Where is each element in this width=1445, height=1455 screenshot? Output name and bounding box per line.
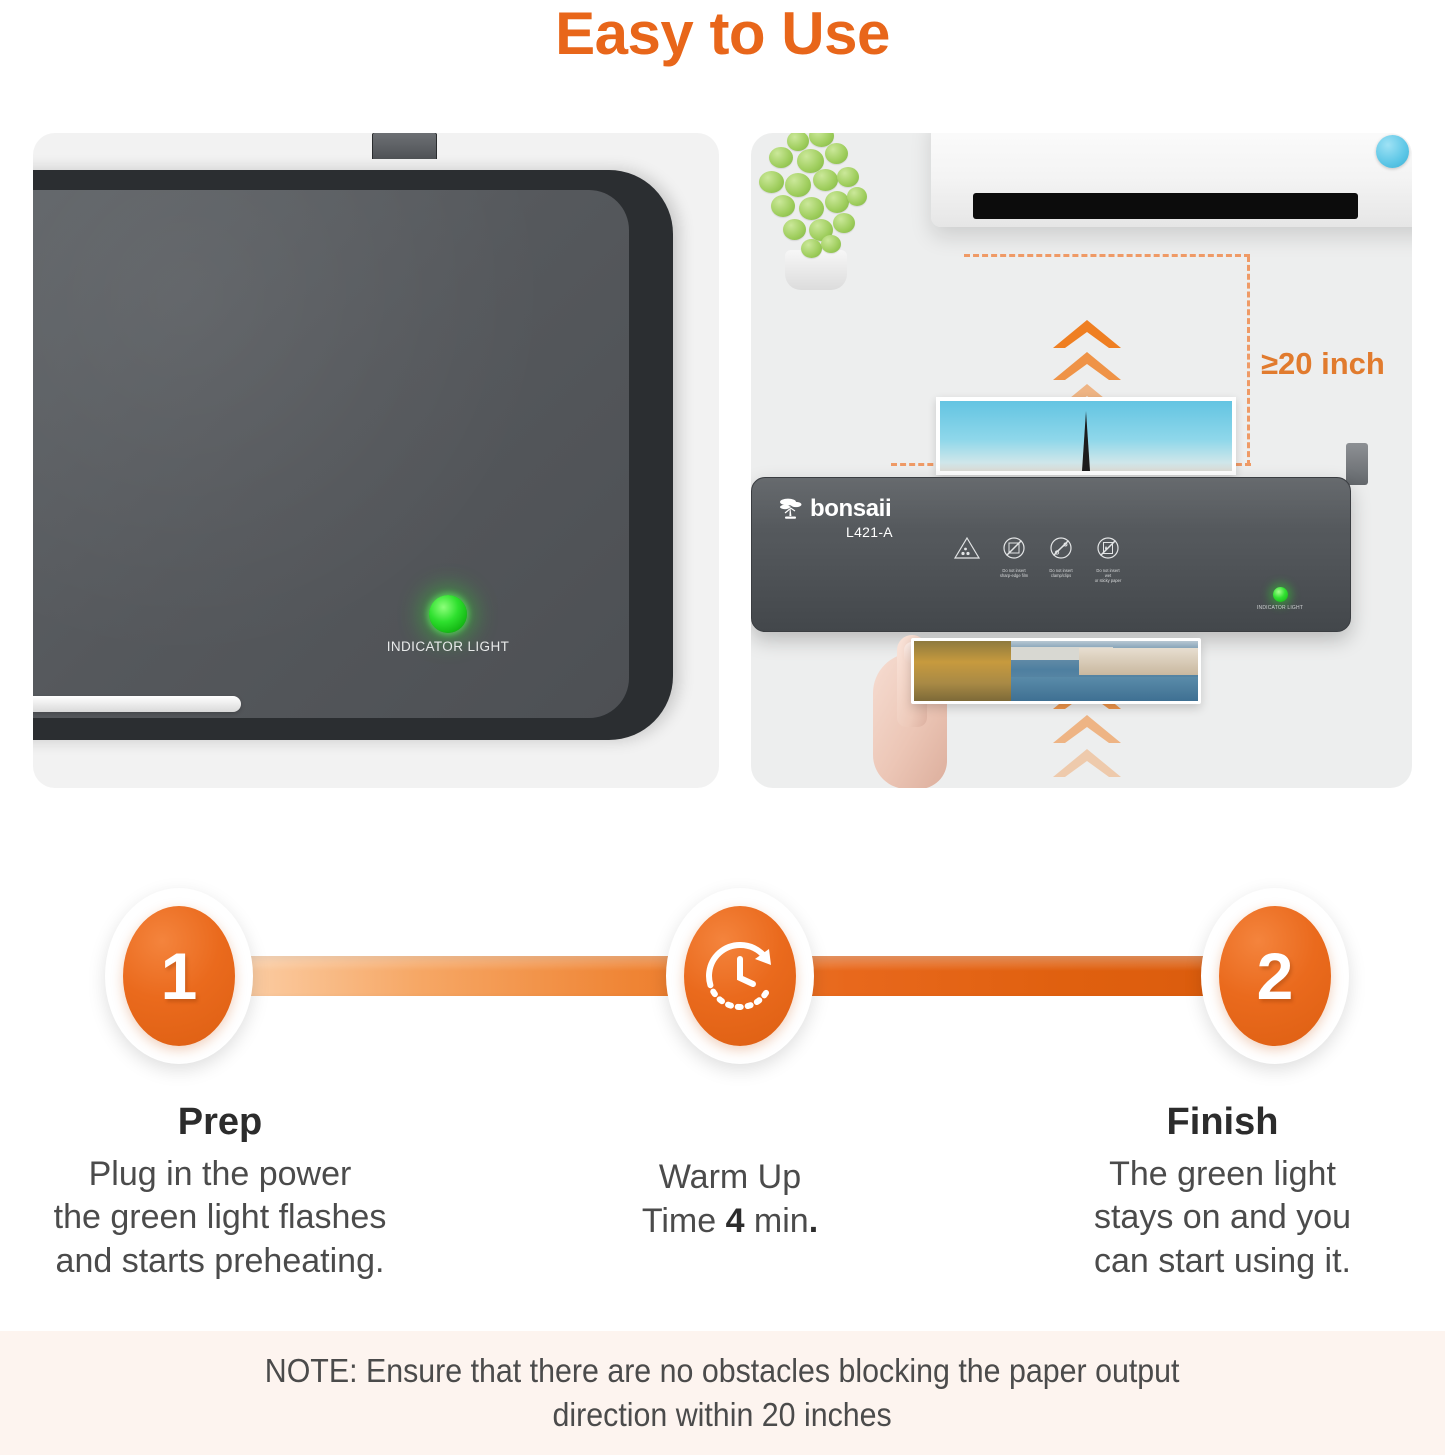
- note-banner: NOTE: Ensure that there are no obstacles…: [0, 1331, 1445, 1455]
- step-prep-line-2: the green light flashes: [0, 1196, 440, 1240]
- step-finish-line-3: can start using it.: [1000, 1240, 1445, 1284]
- step-prep-line-3: and starts preheating.: [0, 1240, 440, 1284]
- warning-caption: Do not insertsharp-edge film: [999, 568, 1029, 578]
- step-finish-line-1: The green light: [1000, 1153, 1445, 1197]
- laminated-photo-output: [936, 397, 1236, 475]
- step-warmup-description: Warm Up Time 4 min.: [520, 1156, 940, 1243]
- model-number: L421-A: [846, 524, 893, 540]
- step-warmup-line-1: Warm Up: [520, 1156, 940, 1200]
- warmup-time-period: .: [809, 1202, 818, 1240]
- step-node-1-disc: 1: [123, 906, 235, 1046]
- warning-caption: Do not insertclamp/clips: [1046, 568, 1076, 578]
- step-finish-line-2: stays on and you: [1000, 1196, 1445, 1240]
- note-line-2: direction within 20 inches: [265, 1393, 1180, 1437]
- step-prep-title: Prep: [0, 1100, 440, 1145]
- photo-trees: [914, 641, 1011, 701]
- bonsai-tree-icon: [778, 496, 804, 522]
- laminator-front-lip: [33, 696, 241, 712]
- photo-sky-image: [940, 401, 1232, 471]
- page-title: Easy to Use: [0, 2, 1445, 65]
- brand-logo-group: bonsaii: [778, 496, 891, 522]
- laminator-top-surface: [33, 190, 629, 718]
- note-line-1: NOTE: Ensure that there are no obstacles…: [265, 1349, 1180, 1393]
- clearance-line-top: [964, 254, 1250, 257]
- green-indicator-light-icon: [1273, 587, 1288, 602]
- photo-being-inserted: [911, 638, 1201, 704]
- laminator-body: INDICATOR LIGHT: [33, 170, 673, 740]
- clearance-line-vertical: [1247, 256, 1250, 466]
- lid-release-tab: [372, 133, 437, 159]
- step-node-1[interactable]: 1: [105, 888, 253, 1064]
- step-node-timer-disc: [684, 906, 796, 1046]
- hot-surface-warning-icon: [952, 535, 982, 568]
- step-node-1-label: 1: [161, 943, 198, 1009]
- step-prep-line-1: Plug in the power: [0, 1153, 440, 1197]
- step-finish: Finish The green light stays on and you …: [1000, 1100, 1445, 1283]
- process-timeline: 1 2: [0, 888, 1445, 1064]
- green-indicator-light-icon: [429, 595, 467, 633]
- photo-landscape-image: [914, 641, 1198, 701]
- white-laminator-device: [931, 133, 1412, 227]
- brand-name: bonsaii: [810, 497, 891, 521]
- no-scissors-icon: Do not insertclamp/clips: [1046, 535, 1076, 578]
- step-warmup-line-2: Time 4 min.: [520, 1200, 940, 1244]
- step-node-2-label: 2: [1257, 943, 1294, 1009]
- indicator-light-label: INDICATOR LIGHT: [378, 639, 518, 654]
- warmup-time-unit: min: [744, 1202, 808, 1240]
- no-sharp-objects-icon: Do not insertsharp-edge film: [999, 535, 1029, 578]
- machine-indicator-group: INDICATOR LIGHT: [1240, 587, 1320, 611]
- indicator-light-label: INDICATOR LIGHT: [1240, 605, 1320, 611]
- warmup-time-prefix: Time: [642, 1202, 726, 1240]
- image-panels-row: INDICATOR LIGHT: [33, 133, 1412, 788]
- tower-spire: [1082, 411, 1090, 471]
- indicator-light-group: INDICATOR LIGHT: [378, 595, 518, 654]
- bonsaii-laminator: bonsaii L421-A: [751, 477, 1351, 632]
- step-node-2-disc: 2: [1219, 906, 1331, 1046]
- step-prep: Prep Plug in the power the green light f…: [0, 1100, 440, 1283]
- paper-output-slot: [973, 193, 1358, 219]
- paper-output-clearance-panel: ≥20 inch: [751, 133, 1412, 788]
- warning-caption: Do not insert wetor sticky paper: [1093, 568, 1123, 583]
- laminator-side-handle: [1346, 443, 1368, 485]
- step-prep-description: Plug in the power the green light flashe…: [0, 1153, 440, 1284]
- step-warmup: Warm Up Time 4 min.: [520, 1156, 940, 1243]
- potted-plant-icon: [757, 133, 889, 290]
- warning-icons-row: Do not insertsharp-edge film Do not inse…: [952, 535, 1123, 583]
- note-text: NOTE: Ensure that there are no obstacles…: [265, 1349, 1180, 1436]
- clock-refresh-icon: [701, 937, 779, 1015]
- step-finish-description: The green light stays on and you can sta…: [1000, 1153, 1445, 1284]
- mode-button-blue[interactable]: [1376, 135, 1409, 168]
- step-node-2[interactable]: 2: [1201, 888, 1349, 1064]
- warmup-minutes: 4: [726, 1202, 745, 1240]
- photo-wall: [1079, 648, 1198, 675]
- clearance-distance-label: ≥20 inch: [1261, 346, 1385, 382]
- no-wet-paper-icon: Do not insert wetor sticky paper: [1093, 535, 1123, 583]
- step-finish-title: Finish: [1000, 1100, 1445, 1145]
- step-node-timer[interactable]: [666, 888, 814, 1064]
- laminator-closeup-panel: INDICATOR LIGHT: [33, 133, 719, 788]
